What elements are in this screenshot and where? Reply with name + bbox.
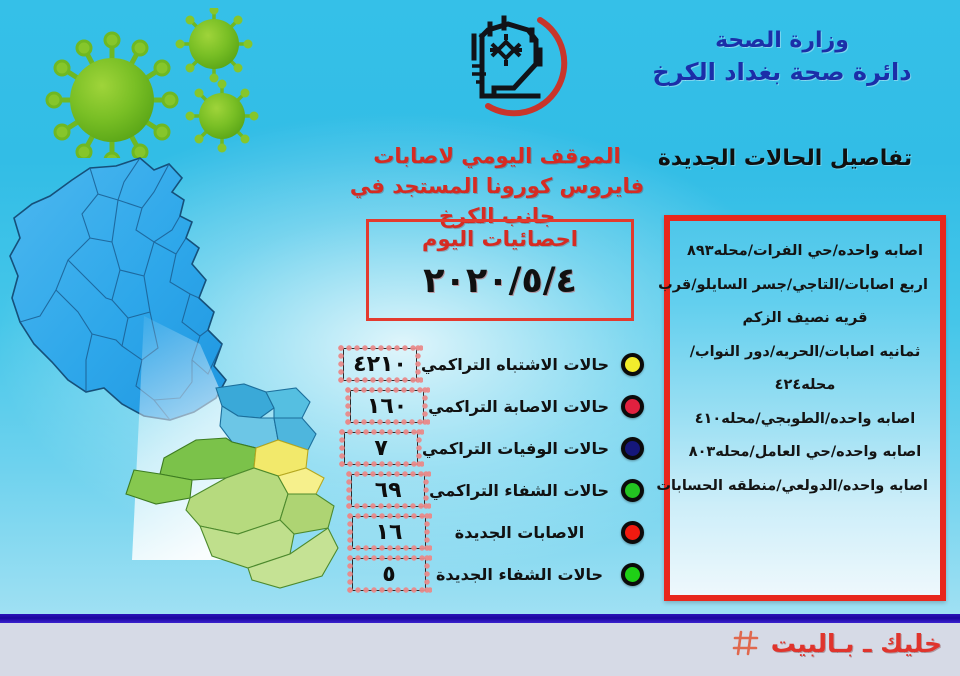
stat-row-confirmed-cumulative: حالات الاصابة التراكمي ١٦٠ xyxy=(352,385,644,427)
suspected-cases-dot xyxy=(621,353,644,376)
today-statistics-label: احصائيات اليوم xyxy=(369,227,631,251)
recoveries-dot xyxy=(621,479,644,502)
detail-line: اصابه واحده/حي الفرات/محله٨٩٣ xyxy=(680,235,930,269)
frame-ornament-left xyxy=(346,512,355,553)
frame-ornament-left xyxy=(338,428,347,469)
stat-row-new-cases: الاصابات الجديدة ١٦ xyxy=(352,511,644,553)
ministry-name: وزارة الصحة xyxy=(632,26,932,56)
frame-ornament-right xyxy=(423,512,432,553)
hashtag-icon xyxy=(731,628,761,658)
frame-ornament-right xyxy=(422,470,431,511)
new-recoveries-dot xyxy=(621,563,644,586)
stat-value-frame: ٦٩ xyxy=(351,474,425,507)
frame-ornament-right xyxy=(423,554,432,595)
detail-line: اصابه واحده/الدولعي/منطقه الحسابات xyxy=(680,470,930,504)
frame-ornament-right xyxy=(421,386,430,427)
ministry-of-health-iraq-logo xyxy=(432,6,592,124)
stat-row-recoveries-cumulative: حالات الشفاء التراكمي ٦٩ xyxy=(352,469,644,511)
stat-value-frame: ٥ xyxy=(352,558,426,591)
confirmed-cases-dot xyxy=(621,395,644,418)
stat-value: ٥ xyxy=(382,562,395,587)
footer-content: خليك ـ بـالبيت xyxy=(731,628,942,658)
statistics-list: حالات الاشتباه التراكمي ٤٢١٠ حالات الاصا… xyxy=(352,343,644,595)
frame-ornament-right xyxy=(414,344,423,385)
detail-line: ثمانيه اصابات/الحريه/دور النواب/ xyxy=(680,336,930,370)
deaths-dot xyxy=(621,437,644,460)
new-cases-details-panel: اصابه واحده/حي الفرات/محله٨٩٣ اربع اصابا… xyxy=(664,215,946,601)
stat-row-suspected-cumulative: حالات الاشتباه التراكمي ٤٢١٠ xyxy=(352,343,644,385)
stat-label: الاصابات الجديدة xyxy=(426,523,613,542)
ministry-header: وزارة الصحة دائرة صحة بغداد الكرخ xyxy=(632,26,932,88)
frame-ornament-left xyxy=(346,554,355,595)
stat-label: حالات الشفاء الجديدة xyxy=(426,565,613,584)
frame-ornament-left xyxy=(344,386,353,427)
stat-value: ٦٩ xyxy=(375,478,402,503)
stay-home-slogan: خليك ـ بـالبيت xyxy=(771,631,942,656)
stat-value-frame: ١٦ xyxy=(352,516,426,549)
infographic-poster: وزارة الصحة دائرة صحة بغداد الكرخ الموقف… xyxy=(0,0,960,676)
detail-line: اصابه واحده/حي العامل/محله٨٠٣ xyxy=(680,436,930,470)
stat-value-frame: ٧ xyxy=(344,432,418,465)
detail-line: اصابه واحده/الطوبجي/محله٤١٠ xyxy=(680,403,930,437)
health-directorate-name: دائرة صحة بغداد الكرخ xyxy=(632,56,932,88)
frame-ornament-right xyxy=(415,428,424,469)
stat-label: حالات الاشتباه التراكمي xyxy=(417,355,613,374)
stat-value: ٧ xyxy=(374,436,387,461)
stat-value: ٤٢١٠ xyxy=(353,352,407,377)
stat-value: ١٦ xyxy=(376,520,403,545)
new-cases-dot xyxy=(621,521,644,544)
frame-ornament-left xyxy=(345,470,354,511)
detail-line: اربع اصابات/التاجي/جسر السايلو/قرب xyxy=(680,269,930,303)
detail-line: محله٤٢٤ xyxy=(680,369,930,403)
frame-ornament-left xyxy=(337,344,346,385)
stat-value-frame: ١٦٠ xyxy=(350,390,424,423)
stat-row-deaths-cumulative: حالات الوفيات التراكمي ٧ xyxy=(352,427,644,469)
stat-value-frame: ٤٢١٠ xyxy=(343,348,417,381)
new-cases-details-title: تفاصيل الحالات الجديدة xyxy=(640,146,930,171)
footer-divider xyxy=(0,614,960,623)
stat-value: ١٦٠ xyxy=(367,394,407,419)
detail-line: قريه نصيف الزكم xyxy=(680,302,930,336)
iraq-map-with-baghdad-karkh-detail xyxy=(0,130,394,590)
stat-label: حالات الاصابة التراكمي xyxy=(424,397,613,416)
today-statistics-box: احصائيات اليوم ٢٠٢٠/٥/٤ xyxy=(366,219,634,321)
report-date: ٢٠٢٠/٥/٤ xyxy=(369,261,631,301)
stat-label: حالات الشفاء التراكمي xyxy=(425,481,613,500)
stat-row-new-recoveries: حالات الشفاء الجديدة ٥ xyxy=(352,553,644,595)
stat-label: حالات الوفيات التراكمي xyxy=(418,439,613,458)
